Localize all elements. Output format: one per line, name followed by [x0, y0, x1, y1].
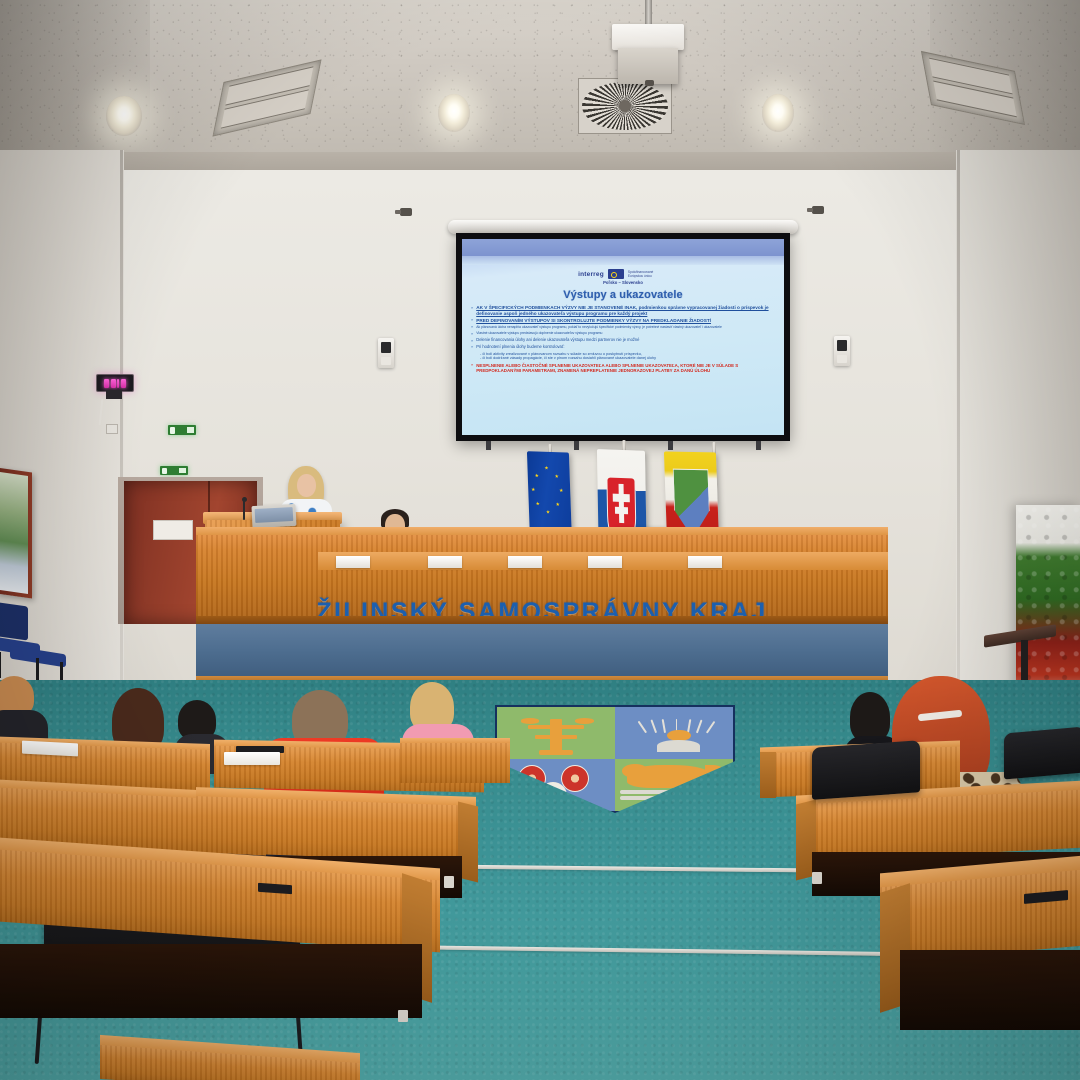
floor-crest-cross-base [539, 750, 572, 755]
wall-corner-right [957, 150, 960, 750]
floor-crest-shield [495, 705, 735, 813]
floor-crest-lion-tail [705, 765, 726, 782]
eu-star [559, 488, 563, 492]
floor-crest-rose-white [539, 782, 567, 809]
slide-header-band [462, 239, 784, 256]
podium-laptop[interactable] [251, 504, 296, 528]
slide-subline: - či boli dodržané zásady propagácie, či… [480, 356, 775, 361]
desk-wood-grain [400, 743, 510, 783]
wall-speaker-right [834, 336, 850, 366]
eu-flag-icon [608, 269, 624, 279]
slide-bullet: » Vlastné ukazovatele výstupu predstavuj… [471, 331, 775, 336]
podium-microphone [243, 500, 245, 520]
name-placard [588, 556, 622, 568]
screen-roller-housing[interactable] [448, 220, 798, 234]
ceiling-projector [612, 0, 684, 92]
wall-corner-left [120, 150, 123, 750]
name-placard [508, 556, 542, 568]
eu-star [535, 473, 539, 477]
floor-crest-leaf [575, 718, 594, 723]
clock-colon [117, 379, 119, 388]
slide-title: Výstupy a ukazovatele [471, 289, 775, 301]
ceiling-downlight-center [438, 94, 470, 132]
emergency-exit-sign-upper [168, 425, 196, 435]
double-cross-vertical [619, 484, 624, 522]
slide-header-band-light [462, 256, 784, 265]
ceiling-downlight-left [106, 96, 142, 136]
bullet-marker: » [471, 345, 473, 350]
bullet-text: Pri hodnotení plnenia úlohy budeme kontr… [476, 345, 564, 350]
audience-hair [850, 692, 890, 742]
bullet-marker: » [471, 363, 473, 373]
slide-warning-bullet: » NESPLNENIE ALEBO ČIASTOČNÉ SPLNENIE UK… [471, 363, 775, 373]
interreg-programme-subtitle: Poľsko – Slovensko [471, 280, 775, 285]
bullet-text: Vlastné ukazovatele výstupu predstavujú … [476, 331, 602, 336]
ceiling-texture [0, 0, 1080, 176]
desk-underside [0, 944, 422, 1018]
slide-bullet: » AK V ŠPECIFICKÝCH PODMIENKACH VÝZVY NI… [471, 305, 775, 316]
projector-mount-rod [645, 0, 652, 26]
bullet-marker: » [471, 305, 473, 316]
wall-socket [106, 424, 118, 434]
spare-chairs-left [0, 600, 84, 682]
floor-crest-wave [620, 796, 714, 799]
double-cross-lower-bar [615, 507, 628, 515]
screen-leg [668, 441, 673, 450]
bullet-text: Ak plánovaná úloha nenapĺňa ukazovateľ v… [476, 325, 722, 330]
wall-speaker-left [378, 338, 394, 368]
clock-digit [104, 379, 109, 388]
floor-crest-mount [657, 740, 699, 751]
eu-star [556, 502, 560, 506]
security-camera-right [812, 206, 824, 214]
chair-leg [0, 652, 1, 678]
desk-foot [444, 876, 454, 888]
projector-lens [645, 80, 654, 86]
presenter-face [297, 474, 316, 497]
ceiling-downlight-right [762, 94, 794, 132]
desk-foot [398, 1010, 408, 1022]
eu-star [544, 466, 548, 470]
clock-mount [106, 390, 122, 399]
projector-lens-housing [618, 48, 677, 84]
framed-landscape-picture [0, 467, 32, 598]
bullet-text: PRED DEFINOVANÍM VÝSTUPOV SI SKONTROLUJT… [476, 318, 711, 324]
bullet-marker: » [471, 318, 473, 324]
eu-cofunding-caption: Spolufinancované Európskou úniou [628, 270, 668, 278]
bullet-text: AK V ŠPECIFICKÝCH PODMIENKACH VÝZVY NIE … [476, 305, 775, 316]
crest-ray [638, 721, 647, 733]
slide-content: interreg Spolufinancované Európskou únio… [462, 265, 784, 435]
crest-ray [706, 721, 715, 733]
desk-front-panel [400, 743, 510, 783]
slide-bullet: » Delenie financovania úlohy ani delenie… [471, 338, 775, 343]
floor-crest-leaf [521, 718, 540, 723]
door-sign-plate [153, 520, 193, 540]
projection-screen[interactable]: interreg Spolufinancované Európskou únio… [462, 239, 784, 435]
warning-text: NESPLNENIE ALEBO ČIASTOČNÉ SPLNENIE UKAZ… [476, 363, 775, 373]
chair-backrest[interactable] [0, 601, 28, 640]
interreg-logo: interreg Spolufinancované Európskou únio… [471, 269, 775, 279]
crest-ray [662, 720, 666, 734]
interreg-wordmark: interreg [578, 271, 604, 278]
bullet-marker: » [471, 338, 473, 343]
crest-ray [696, 720, 702, 733]
picture-artwork [0, 472, 28, 594]
screen-leg [756, 441, 761, 450]
crest-ray [650, 720, 656, 733]
desk-paper [224, 752, 280, 765]
ceiling [0, 0, 1080, 176]
name-placard [688, 556, 722, 568]
floor-crest-lion-head [622, 764, 648, 778]
name-placard [428, 556, 462, 568]
projector-body [612, 24, 684, 50]
slide-bullet: » PRED DEFINOVANÍM VÝSTUPOV SI SKONTROLU… [471, 318, 775, 324]
audience-desk-bottom [100, 1044, 360, 1080]
clock-digit [111, 379, 116, 388]
slide-bullet: » Ak plánovaná úloha nenapĺňa ukazovateľ… [471, 325, 775, 330]
front-chair-back-right[interactable] [1004, 727, 1080, 780]
eu-star [536, 501, 540, 505]
desk-side-panel [760, 752, 776, 798]
bullet-marker: » [471, 331, 473, 336]
eu-star [531, 487, 535, 491]
floor-crest-rose-red [518, 765, 546, 792]
screen-leg [574, 441, 579, 450]
floor-crest-cross-lower [535, 735, 577, 739]
dais-base-panel [196, 624, 888, 682]
bullet-text: Delenie financovania úlohy ani delenie u… [476, 338, 639, 343]
desk-underside [900, 950, 1080, 1030]
bullet-marker: » [471, 325, 473, 330]
double-cross-upper-bar [613, 493, 630, 502]
emergency-exit-sign-door [160, 466, 188, 475]
security-camera [400, 208, 412, 216]
fan-hub [619, 100, 631, 112]
slide-bullet-list: » AK V ŠPECIFICKÝCH PODMIENKACH VÝZVY NI… [471, 305, 775, 373]
name-placard [336, 556, 370, 568]
clock-digit [121, 379, 126, 388]
screen-leg [486, 441, 491, 450]
audience-desk-far-right2 [400, 738, 510, 790]
conference-hall-photo: interreg Spolufinancované Európskou únio… [0, 0, 1080, 1080]
audience-chair-back[interactable] [812, 740, 920, 800]
eu-star [546, 510, 550, 514]
floor-coat-of-arms [495, 705, 735, 813]
floor-crest-wave [620, 790, 724, 794]
desk-foot [812, 872, 822, 884]
eu-star [555, 474, 559, 478]
slide-bullet: » Pri hodnotení plnenia úlohy budeme kon… [471, 345, 775, 350]
floor-crest-cross-upper [528, 725, 585, 730]
